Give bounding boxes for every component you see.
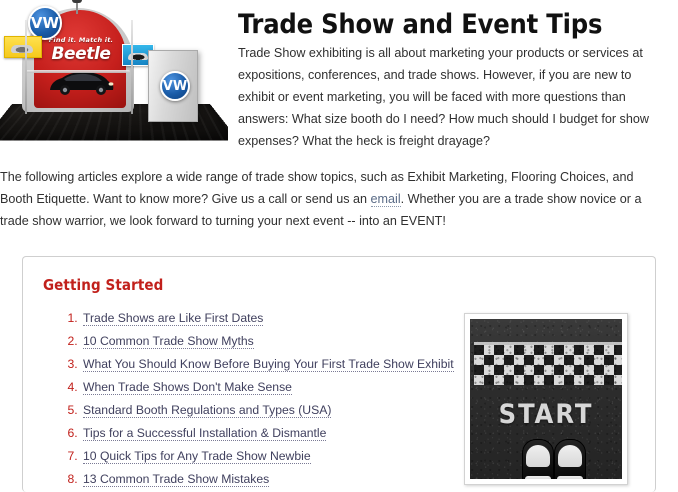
booth-illustration: Find it. Match it. Beetle VW xyxy=(0,0,228,152)
page-root: Find it. Match it. Beetle VW xyxy=(0,0,678,491)
booth-post-right xyxy=(131,20,133,114)
article-link-8[interactable]: 13 Common Trade Show Mistakes xyxy=(83,472,269,487)
article-link-3[interactable]: What You Should Know Before Buying Your … xyxy=(83,357,454,372)
vw-logo-label-kiosk: VW xyxy=(162,73,188,99)
vw-logo-icon-kiosk: VW xyxy=(160,71,190,101)
vw-logo-icon: VW xyxy=(28,6,62,40)
booth-yellow-panel xyxy=(4,36,42,58)
article-link-6[interactable]: Tips for a Successful Installation & Dis… xyxy=(83,426,326,441)
start-word-label: START xyxy=(470,399,622,430)
vw-logo-label: VW xyxy=(30,8,60,38)
article-link-7[interactable]: 10 Quick Tips for Any Trade Show Newbie xyxy=(83,449,311,464)
booth-shelf xyxy=(26,70,130,73)
booth-spotlight-icon xyxy=(76,0,78,14)
email-link[interactable]: email xyxy=(371,192,401,207)
article-link-5[interactable]: Standard Booth Regulations and Types (US… xyxy=(83,403,331,418)
start-photo-inner: START xyxy=(470,319,622,479)
booth-post-left xyxy=(25,20,27,114)
article-link-2[interactable]: 10 Common Trade Show Myths xyxy=(83,334,254,349)
article-link-1[interactable]: Trade Shows are Like First Dates xyxy=(83,311,263,326)
trade-show-booth-image: Find it. Match it. Beetle VW xyxy=(0,0,228,152)
sneaker-right xyxy=(554,439,586,479)
article-link-4[interactable]: When Trade Shows Don't Make Sense xyxy=(83,380,292,395)
intro-paragraph-2: The following articles explore a wide ra… xyxy=(0,166,666,232)
start-line-image: START xyxy=(464,313,628,485)
checkered-pattern xyxy=(474,345,622,385)
booth-brand-text: Beetle xyxy=(42,44,120,64)
booth-kiosk: VW xyxy=(148,50,198,122)
getting-started-heading: Getting Started xyxy=(23,257,655,294)
sneaker-left xyxy=(522,439,554,479)
